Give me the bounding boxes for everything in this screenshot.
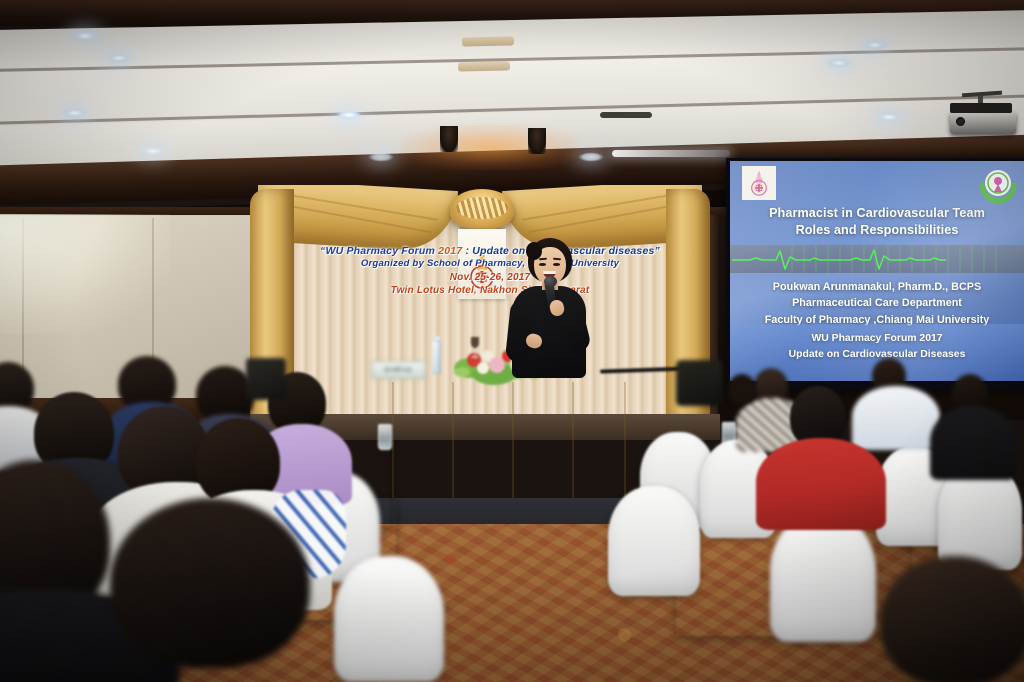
projector-top-casing	[950, 103, 1012, 113]
event-banner: “WU Pharmacy Forum 2017 : Update on card…	[300, 246, 680, 297]
ceiling-downlight	[336, 110, 362, 120]
slide-glare	[730, 161, 1024, 381]
av-equipment	[676, 360, 722, 406]
wall-light-wash	[0, 214, 170, 334]
audience-head	[728, 374, 756, 404]
banner-line-3: Nov. 25-26, 2017	[300, 273, 680, 284]
audience-chair	[770, 512, 876, 642]
ceiling-downlight	[62, 108, 88, 118]
audience-head	[110, 498, 310, 668]
head-table-skirt-fold	[512, 382, 514, 500]
speaker-eye	[539, 263, 546, 266]
stage-spotlight-glow	[400, 124, 580, 170]
ceiling-downlight	[578, 152, 604, 162]
stage-spotlight	[440, 126, 458, 152]
drinking-glass	[378, 424, 392, 450]
speaker-presenter	[498, 238, 598, 378]
head-table	[355, 370, 645, 505]
ceiling-light-strip	[612, 150, 730, 157]
audience-shoulders	[852, 386, 940, 450]
ceiling-downlight	[140, 146, 166, 156]
head-table-skirt-fold	[572, 382, 574, 500]
speaker-eye	[553, 263, 560, 266]
ceiling-vent	[458, 61, 510, 71]
banner-line-4: Twin Lotus Hotel, Nakhon Si Thammarat	[300, 286, 680, 297]
ceiling-downlight	[72, 31, 98, 41]
audience-chair	[608, 486, 700, 596]
audience-shoulders-red-jacket	[756, 438, 886, 530]
stage-spotlight	[528, 128, 546, 154]
audience-chair	[334, 556, 444, 682]
ceiling-vent	[600, 112, 652, 118]
av-equipment	[246, 358, 286, 400]
curtain-rosette	[450, 189, 514, 229]
ceiling-downlight	[106, 53, 132, 63]
wine-glass	[470, 336, 478, 358]
ceiling-downlight	[368, 152, 394, 162]
ceiling-downlight	[876, 112, 902, 122]
microphone-head-icon	[544, 276, 557, 287]
audience-head	[880, 556, 1024, 682]
audience-shoulders	[930, 406, 1016, 480]
ceiling-downlight	[862, 40, 888, 50]
ceiling-vent	[462, 36, 514, 46]
projector-lens-icon	[956, 117, 965, 126]
head-table-skirt-fold	[624, 382, 626, 500]
ceiling-downlight	[826, 58, 852, 68]
presentation-slide: Pharmacist in Cardiovascular Team Roles …	[730, 161, 1024, 381]
banner-line-1: “WU Pharmacy Forum 2017 : Update on card…	[300, 246, 680, 257]
head-table-skirt-fold	[392, 382, 394, 500]
head-table-skirt-fold	[452, 382, 454, 500]
conference-photo: “WU Pharmacy Forum 2017 : Update on card…	[0, 0, 1024, 682]
ceiling-projector	[950, 112, 1016, 134]
banner-line-2: Organized by School of Pharmacy, Walaila…	[300, 259, 680, 269]
